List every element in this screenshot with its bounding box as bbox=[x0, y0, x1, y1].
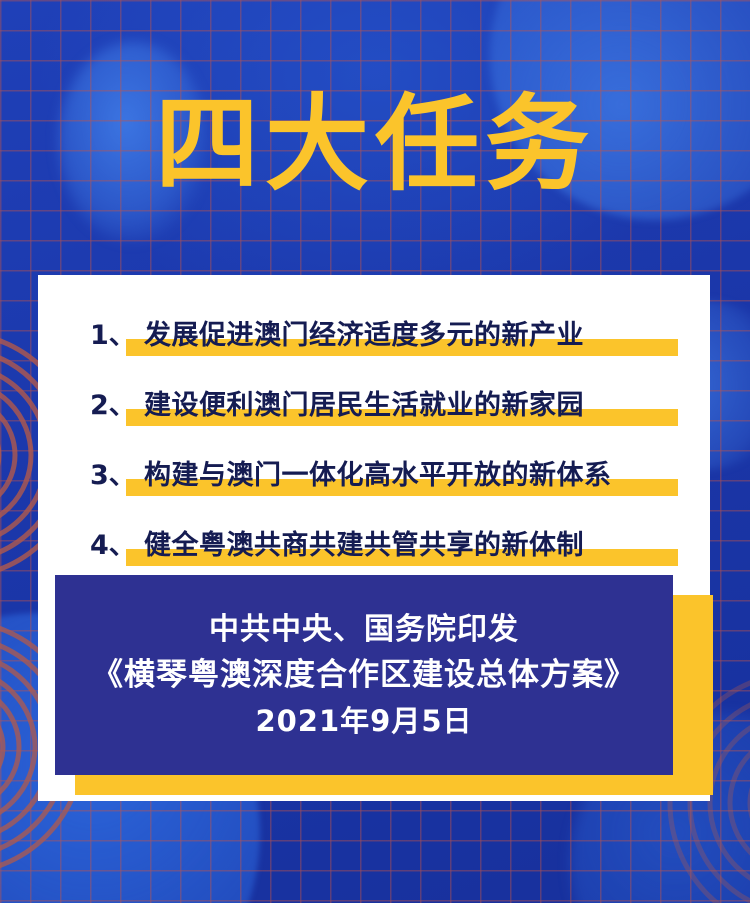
task-label: 构建与澳门一体化高水平开放的新体系 bbox=[144, 453, 612, 492]
task-number: 3、 bbox=[90, 453, 144, 492]
task-list: 1、 发展促进澳门经济适度多元的新产业 2、 建设便利澳门居民生活就业的新家园 … bbox=[90, 297, 686, 577]
task-number: 1、 bbox=[90, 313, 144, 352]
source-block: 中共中央、国务院印发 《横琴粤澳深度合作区建设总体方案》 2021年9月5日 bbox=[55, 575, 710, 795]
task-label: 建设便利澳门居民生活就业的新家园 bbox=[144, 383, 584, 422]
poster-title: 四大任务 bbox=[0, 92, 750, 196]
task-item: 2、 建设便利澳门居民生活就业的新家园 bbox=[90, 367, 686, 437]
source-date: 2021年9月5日 bbox=[255, 701, 472, 741]
task-number: 4、 bbox=[90, 523, 144, 562]
task-item: 4、 健全粤澳共商共建共管共享的新体制 bbox=[90, 507, 686, 577]
content-card: 1、 发展促进澳门经济适度多元的新产业 2、 建设便利澳门居民生活就业的新家园 … bbox=[38, 275, 710, 801]
source-issuer: 中共中央、国务院印发 bbox=[209, 609, 519, 650]
source-block-body: 中共中央、国务院印发 《横琴粤澳深度合作区建设总体方案》 2021年9月5日 bbox=[55, 575, 673, 775]
task-item: 1、 发展促进澳门经济适度多元的新产业 bbox=[90, 297, 686, 367]
poster-canvas: 四大任务 1、 发展促进澳门经济适度多元的新产业 2、 建设便利澳门居民生活就业… bbox=[0, 0, 750, 903]
task-number: 2、 bbox=[90, 383, 144, 422]
source-document-title: 《横琴粤澳深度合作区建设总体方案》 bbox=[92, 654, 636, 697]
task-label: 健全粤澳共商共建共管共享的新体制 bbox=[144, 523, 584, 562]
task-label: 发展促进澳门经济适度多元的新产业 bbox=[144, 313, 584, 352]
task-item: 3、 构建与澳门一体化高水平开放的新体系 bbox=[90, 437, 686, 507]
